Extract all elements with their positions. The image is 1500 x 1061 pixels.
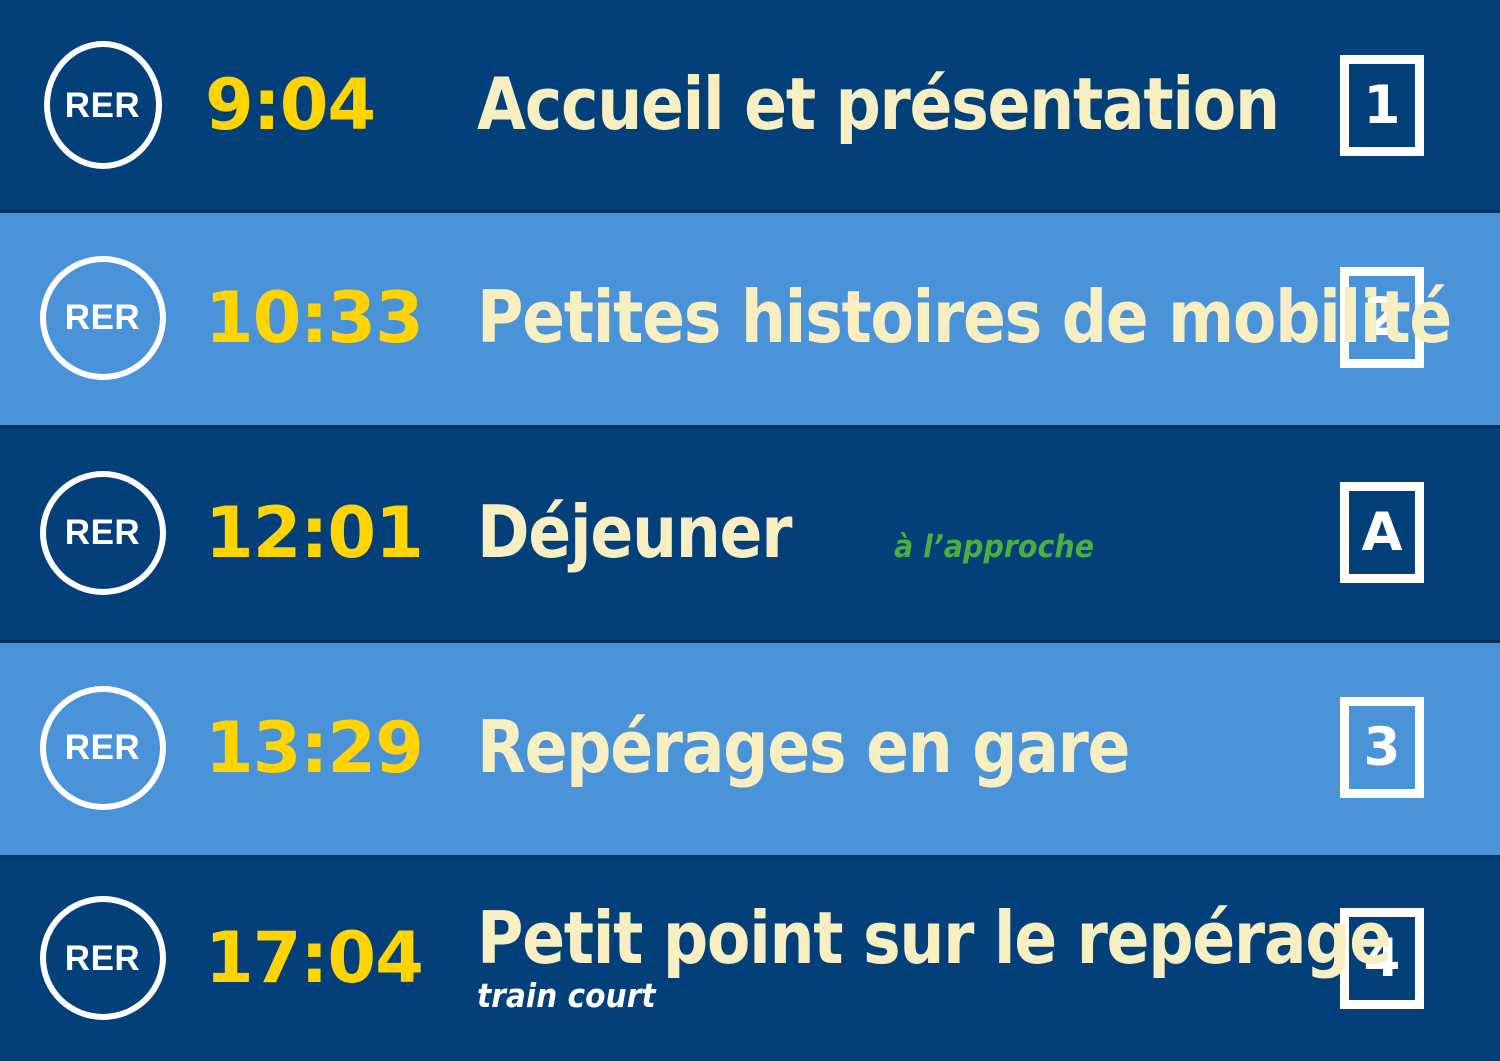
- destination-text: Accueil et présentation: [477, 68, 1279, 141]
- destination-line: Déjeuner à l’approche: [477, 496, 1328, 569]
- rer-line-icon: RER: [40, 896, 166, 1020]
- destination-line: Repérages en gare: [477, 711, 1328, 784]
- platform-badge: 1: [1340, 55, 1424, 156]
- departure-time: 13:29: [205, 713, 477, 783]
- row-separator: [0, 210, 1500, 213]
- departure-row[interactable]: RER 17:04 Petit point sur le repérage tr…: [0, 855, 1500, 1061]
- rer-line-icon: RER: [40, 471, 166, 595]
- status-inline-text: à l’approche: [894, 529, 1094, 565]
- line-logo-cell: RER: [0, 686, 205, 810]
- row-separator: [0, 855, 1500, 858]
- destination-cell: Petites histoires de mobilité: [477, 281, 1340, 354]
- destination-text: Repérages en gare: [477, 711, 1129, 784]
- rer-label: RER: [65, 300, 140, 335]
- rer-label: RER: [65, 515, 140, 550]
- destination-text: Petit point sur le repérage: [477, 902, 1391, 975]
- destination-cell: Déjeuner à l’approche: [477, 496, 1340, 569]
- destination-cell: Repérages en gare: [477, 711, 1340, 784]
- platform-badge: A: [1340, 482, 1424, 583]
- platform-badge-cell: 1: [1340, 55, 1500, 156]
- status-sub-text: train court: [477, 978, 1243, 1014]
- departure-time: 10:33: [205, 283, 477, 353]
- line-logo-cell: RER: [0, 41, 205, 169]
- destination-cell: Petit point sur le repérage train court: [477, 902, 1340, 1014]
- destination-line: Petites histoires de mobilité: [477, 281, 1328, 354]
- rer-label: RER: [65, 730, 140, 765]
- line-logo-cell: RER: [0, 256, 205, 380]
- departure-row[interactable]: RER 12:01 Déjeuner à l’approche A: [0, 425, 1500, 640]
- rer-label: RER: [65, 941, 140, 976]
- departure-time: 9:04: [205, 70, 477, 140]
- destination-text: Déjeuner: [477, 496, 791, 569]
- departure-time: 12:01: [205, 498, 477, 568]
- departure-board: RER 9:04 Accueil et présentation 1 RER 1…: [0, 0, 1500, 1061]
- departure-row[interactable]: RER 13:29 Repérages en gare 3: [0, 640, 1500, 855]
- destination-line: Petit point sur le repérage: [477, 902, 1328, 975]
- departure-row[interactable]: RER 10:33 Petites histoires de mobilité …: [0, 210, 1500, 425]
- rer-label: RER: [65, 88, 140, 123]
- destination-line: Accueil et présentation: [477, 68, 1328, 141]
- rer-line-icon: RER: [40, 256, 166, 380]
- platform-badge-cell: A: [1340, 482, 1500, 583]
- rer-line-icon: RER: [40, 686, 166, 810]
- line-logo-cell: RER: [0, 471, 205, 595]
- rer-line-icon: RER: [44, 41, 162, 169]
- departure-row[interactable]: RER 9:04 Accueil et présentation 1: [0, 0, 1500, 210]
- departure-time: 17:04: [205, 923, 477, 993]
- platform-badge-cell: 3: [1340, 697, 1500, 798]
- destination-text: Petites histoires de mobilité: [477, 281, 1451, 354]
- line-logo-cell: RER: [0, 896, 205, 1020]
- platform-badge: 3: [1340, 697, 1424, 798]
- row-separator: [0, 640, 1500, 643]
- destination-cell: Accueil et présentation: [477, 68, 1340, 141]
- row-separator: [0, 425, 1500, 428]
